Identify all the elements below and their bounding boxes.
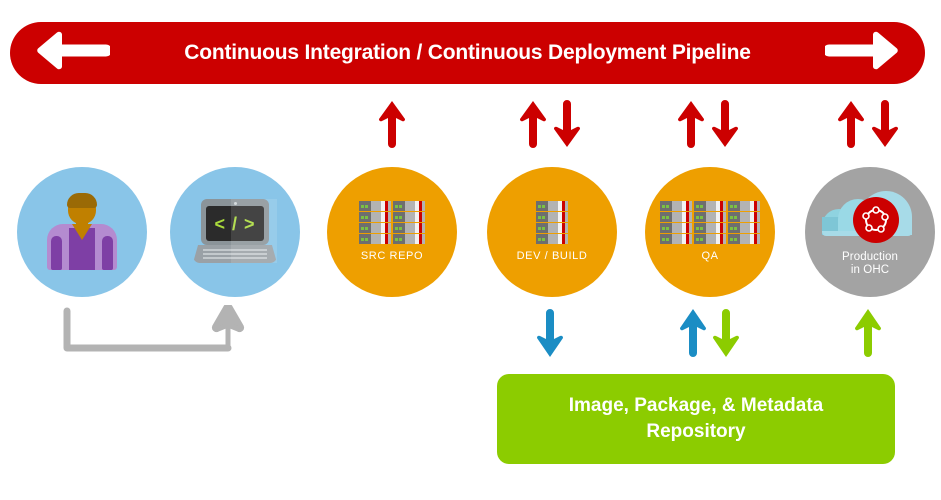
arrow-up-dev-build bbox=[518, 100, 548, 153]
node-label-production: Production in OHC bbox=[842, 251, 898, 277]
node-developer[interactable] bbox=[17, 167, 147, 297]
node-dev-build[interactable]: DEV / BUILD bbox=[487, 167, 617, 297]
node-qa[interactable]: QA bbox=[645, 167, 775, 297]
arrow-up-repo-to-production bbox=[853, 308, 883, 363]
cloud-openshift-icon bbox=[820, 187, 920, 245]
arrow-down-repo-to-qa bbox=[711, 308, 741, 363]
arrow-left-icon bbox=[36, 31, 110, 76]
gray-u-connector bbox=[60, 305, 250, 362]
arrow-up-production bbox=[836, 100, 866, 153]
openshift-logo-icon bbox=[853, 197, 899, 243]
pipeline-banner: Continuous Integration / Continuous Depl… bbox=[10, 22, 925, 84]
repository-box[interactable]: Image, Package, & Metadata Repository bbox=[497, 374, 895, 464]
arrow-up-qa-to-repo bbox=[678, 308, 708, 363]
node-workstation[interactable]: < / > bbox=[170, 167, 300, 297]
repository-label-line1: Image, Package, & Metadata bbox=[569, 395, 824, 416]
node-label-dev-build: DEV / BUILD bbox=[517, 250, 588, 263]
laptop-code-icon: < / > bbox=[193, 199, 277, 265]
arrow-right-icon bbox=[825, 31, 899, 76]
node-label-production-line1: Production bbox=[842, 251, 898, 263]
server-rack-icon bbox=[359, 201, 425, 244]
pipeline-title: Continuous Integration / Continuous Depl… bbox=[184, 41, 751, 65]
node-production[interactable]: Production in OHC bbox=[805, 167, 935, 297]
server-rack-icon bbox=[660, 201, 760, 244]
node-src-repo[interactable]: SRC REPO bbox=[327, 167, 457, 297]
arrow-down-production bbox=[870, 100, 900, 153]
arrow-down-dev-build-to-repo bbox=[535, 308, 565, 363]
server-rack-icon bbox=[536, 201, 568, 244]
arrow-up-qa bbox=[676, 100, 706, 153]
arrow-up-src-repo bbox=[377, 100, 407, 153]
person-icon bbox=[45, 194, 119, 270]
cicd-pipeline-diagram: Continuous Integration / Continuous Depl… bbox=[0, 0, 941, 500]
repository-label-line2: Repository bbox=[646, 421, 745, 442]
arrow-down-qa bbox=[710, 100, 740, 153]
node-label-qa: QA bbox=[701, 250, 718, 263]
node-label-src-repo: SRC REPO bbox=[361, 250, 423, 263]
node-label-production-line2: in OHC bbox=[851, 264, 889, 276]
repository-label: Image, Package, & Metadata Repository bbox=[569, 393, 824, 445]
arrow-down-dev-build bbox=[552, 100, 582, 153]
